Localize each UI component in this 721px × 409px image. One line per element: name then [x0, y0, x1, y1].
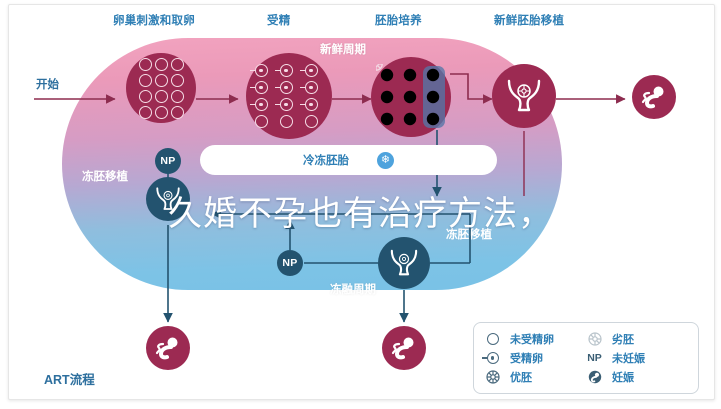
oocyte-dish-icon: [139, 58, 184, 119]
good-embryo-icon: [484, 370, 501, 384]
node-baby-frozen-center[interactable]: [382, 326, 426, 370]
fetus-icon: [389, 333, 419, 363]
snowflake-icon: ❄: [377, 152, 394, 169]
legend-item: 优胚: [484, 368, 586, 387]
np-node-upper[interactable]: NP: [155, 148, 181, 174]
legend-column-left: 未受精卵 受精卵 优胚: [484, 329, 586, 387]
frozen-embryo-label: 冷冻胚胎: [303, 152, 349, 168]
frozen-embryo-bar[interactable]: 冷冻胚胎 ❄: [200, 145, 497, 175]
node-ovarian-stimulation[interactable]: [126, 53, 196, 123]
legend-label: 劣胚: [612, 331, 634, 347]
embryo-dish-icon: [376, 64, 446, 130]
np-node-lower[interactable]: NP: [277, 250, 303, 276]
legend-item: 妊娠: [586, 368, 688, 387]
legend-label: 受精卵: [510, 350, 543, 366]
node-embryo-culture[interactable]: [371, 57, 451, 137]
unfertilized-oocyte-icon: [484, 333, 501, 345]
poor-embryo-icon: [586, 332, 603, 346]
legend-label: 未受精卵: [510, 331, 554, 347]
diagram-canvas: 卵巢刺激和取卵 受精 胚胎培养 新鲜胚胎移植 新鲜周期 冻融周期 开始 冻胚移植…: [0, 0, 721, 409]
fertilized-oocyte-dish-icon: [255, 64, 324, 128]
overlay-caption: 久婚不孕也有治疗方法，: [0, 186, 721, 235]
pregnancy-icon: [586, 370, 603, 384]
node-baby-fresh[interactable]: [632, 75, 676, 119]
legend-label: 妊娠: [612, 369, 634, 385]
uterus-icon: [387, 246, 421, 280]
legend-label: 未妊娠: [612, 350, 645, 366]
node-uterus-fresh-transfer[interactable]: [492, 64, 556, 128]
legend-box: 未受精卵 受精卵 优胚: [473, 322, 699, 394]
node-fertilization[interactable]: [246, 53, 332, 139]
fertilized-oocyte-icon: [484, 352, 501, 364]
legend-item: 受精卵: [484, 348, 586, 367]
legend-item: 未受精卵: [484, 329, 586, 348]
legend-item: NP 未妊娠: [586, 348, 688, 367]
art-flow-title: ART流程: [44, 369, 95, 388]
legend-label: 优胚: [510, 369, 532, 385]
np-text-icon: NP: [586, 352, 603, 364]
legend-column-right: 劣胚 NP 未妊娠 妊娠: [586, 329, 688, 387]
uterus-icon: [503, 75, 545, 117]
legend-item: 劣胚: [586, 329, 688, 348]
fetus-icon: [639, 82, 669, 112]
node-uterus-frozen-right[interactable]: [378, 237, 430, 289]
fetus-icon: [153, 333, 183, 363]
node-baby-frozen-left[interactable]: [146, 326, 190, 370]
